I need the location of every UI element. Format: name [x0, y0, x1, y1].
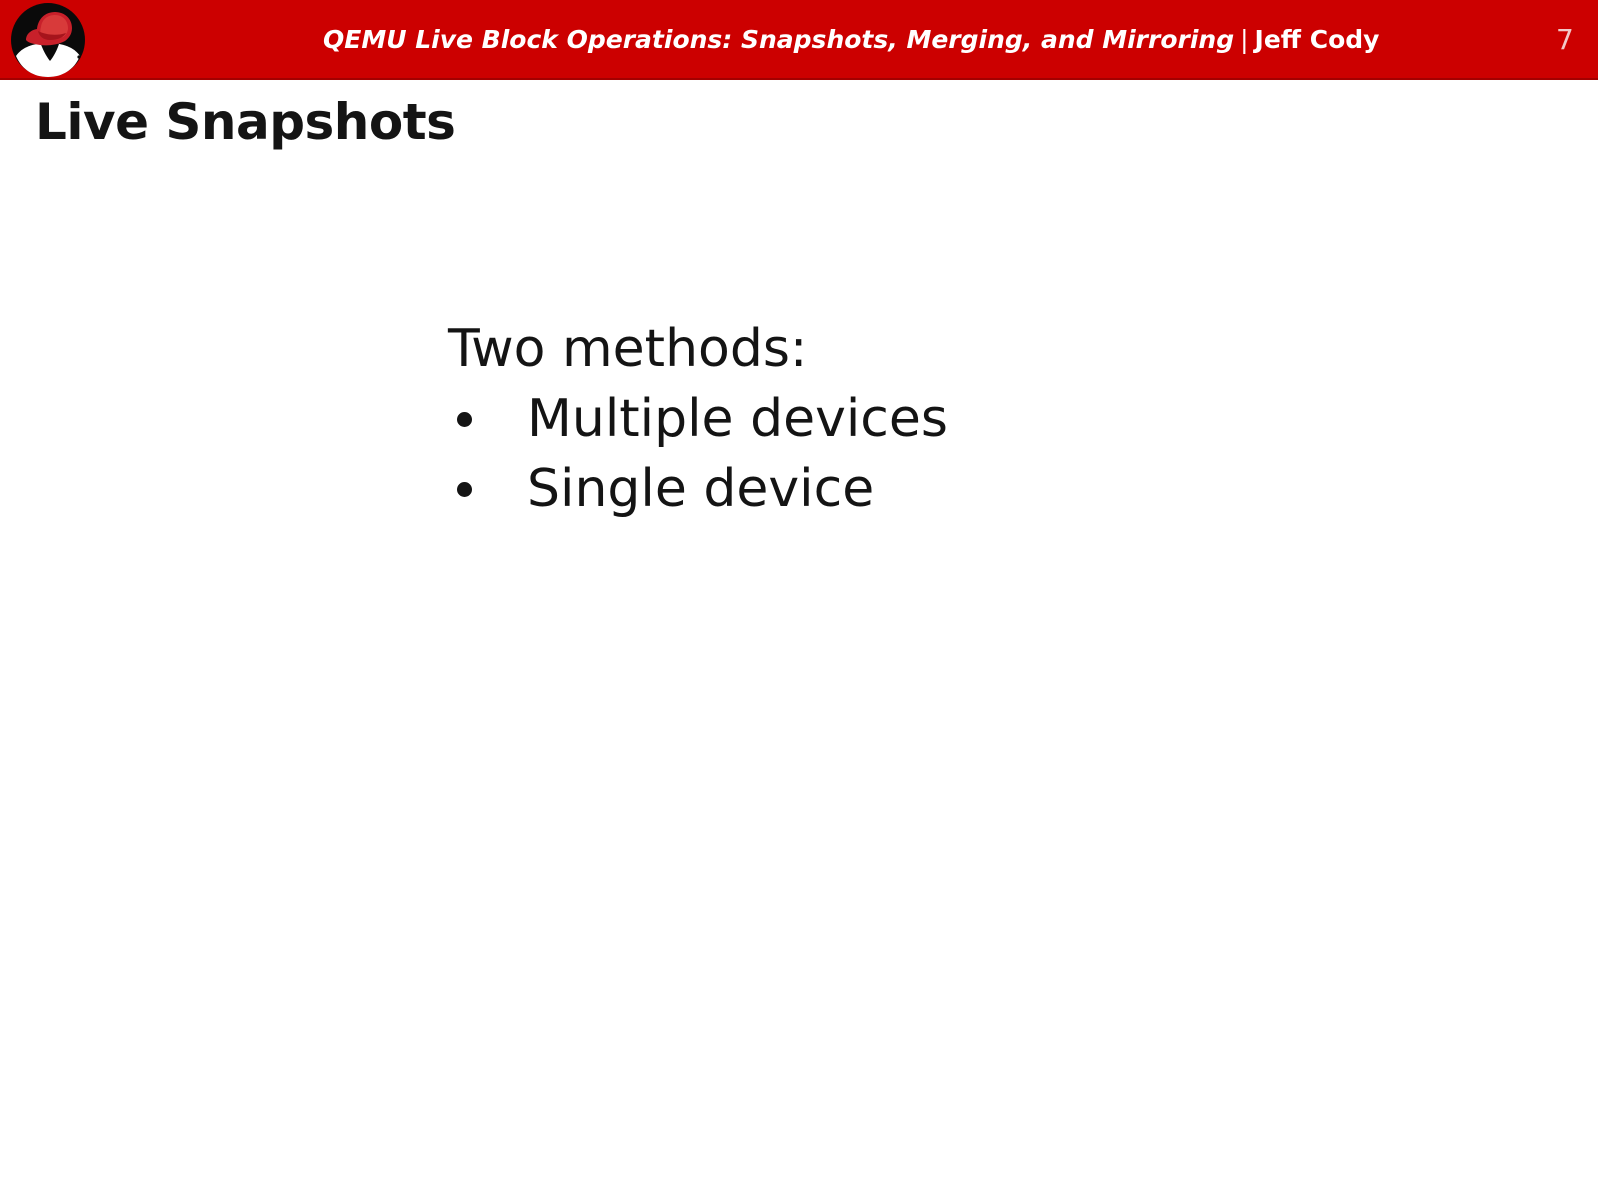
slide-body: Two methods: Multiple devices Single dev…	[448, 314, 1348, 524]
presentation-slide: QEMU Live Block Operations: Snapshots, M…	[0, 0, 1598, 1201]
page-number: 7	[1556, 20, 1598, 60]
method-bullet-list: Multiple devices Single device	[448, 384, 1348, 524]
header-separator: |	[1234, 25, 1254, 54]
deck-header-title: QEMU Live Block Operations: Snapshots, M…	[323, 20, 1263, 60]
list-item: Single device	[448, 454, 1348, 524]
body-lead-text: Two methods:	[448, 314, 1348, 384]
slide-header-bar: QEMU Live Block Operations: Snapshots, M…	[0, 0, 1598, 80]
list-item-label: Multiple devices	[527, 389, 948, 449]
page-title: Live Snapshots	[35, 93, 455, 151]
bullet-dot-icon	[457, 482, 472, 497]
list-item-label: Single device	[527, 459, 874, 519]
deck-title-text: QEMU Live Block Operations: Snapshots, M…	[323, 25, 1234, 54]
red-hat-shadowman-logo	[10, 0, 86, 82]
deck-author-text: Jeff Cody	[1255, 25, 1380, 54]
bullet-dot-icon	[457, 412, 472, 427]
list-item: Multiple devices	[448, 384, 1348, 454]
